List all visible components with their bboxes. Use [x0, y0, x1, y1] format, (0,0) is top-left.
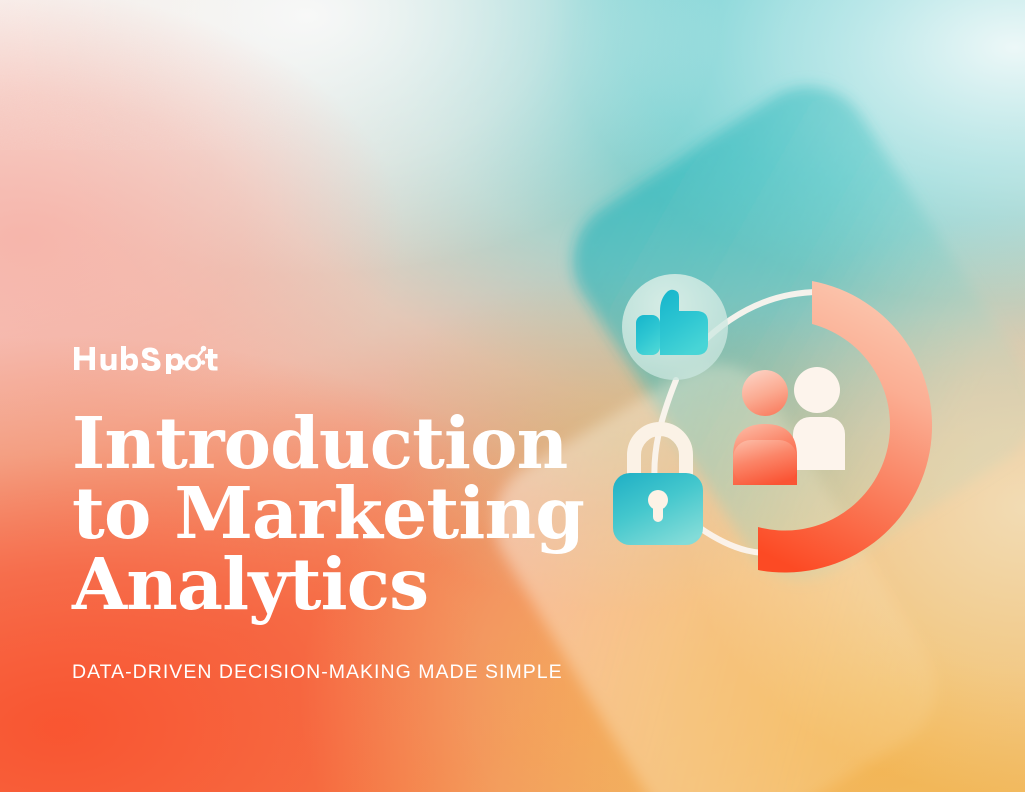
hubspot-sprocket-icon — [181, 346, 207, 369]
hubspot-logo — [72, 340, 222, 374]
page-subtitle: DATA-DRIVEN DECISION-MAKING MADE SIMPLE — [72, 661, 592, 684]
page-title: Introduction to Marketing Analytics — [72, 408, 592, 619]
cover-text-block: Introduction to Marketing Analytics DATA… — [72, 340, 592, 684]
thumbs-up-icon — [622, 274, 728, 380]
ebook-cover: Introduction to Marketing Analytics DATA… — [0, 0, 1025, 792]
